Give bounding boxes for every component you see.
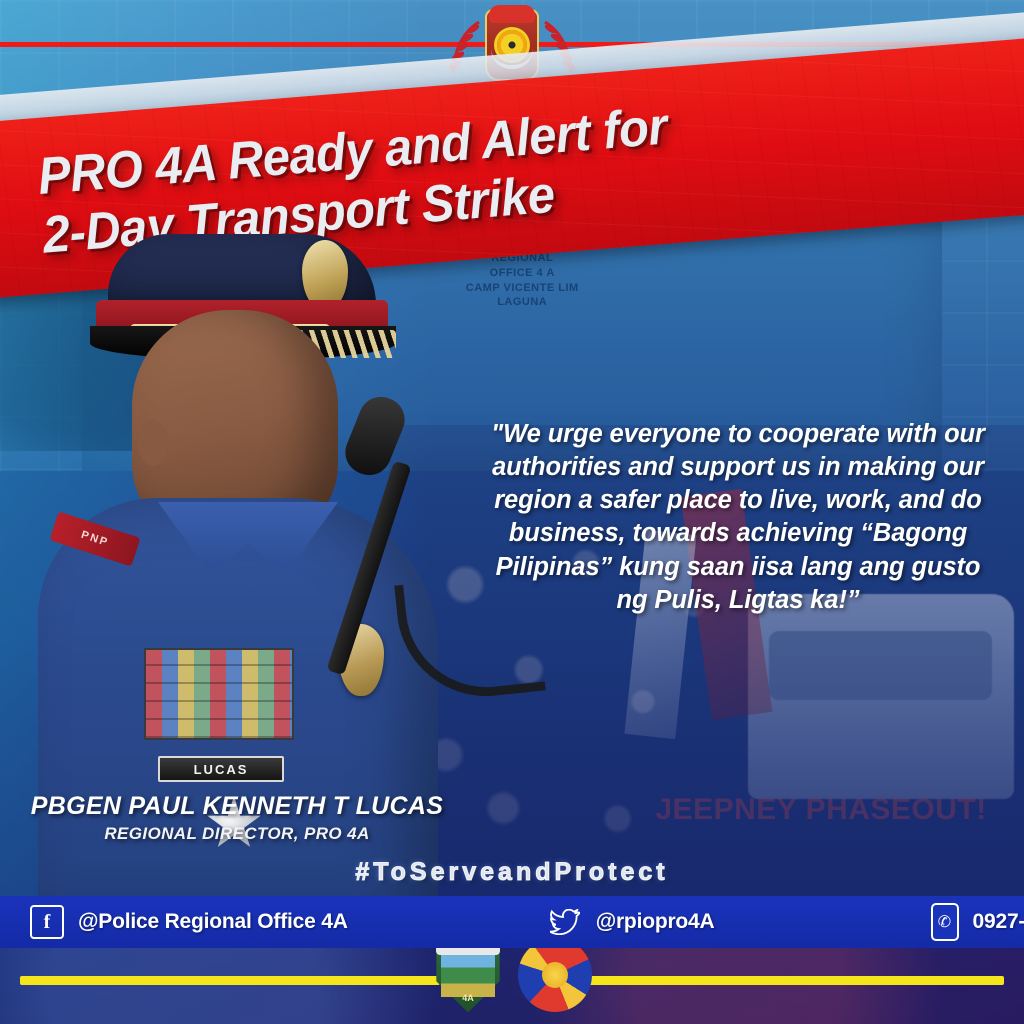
pro-4a-seal: 4A xyxy=(432,948,504,1014)
twitter-handle[interactable]: @rpiopro4A xyxy=(596,910,715,934)
emblem-group: 4A xyxy=(432,948,592,1014)
official-name: PBGEN PAUL KENNETH T LUCAS xyxy=(22,792,452,821)
phone-number[interactable]: 0927-022-0569 xyxy=(973,910,1024,934)
contact-phone[interactable]: ✆ 0927-022-0569 xyxy=(931,903,1024,941)
official-title: REGIONAL DIRECTOR, PRO 4A xyxy=(22,824,452,844)
contact-footer-bar: f @Police Regional Office 4A @rpiopro4A … xyxy=(0,896,1024,948)
pro-4a-shield-chief xyxy=(436,948,499,955)
hashtag-slogan: #ToServeandProtect xyxy=(0,858,1024,887)
quote-text: "We urge everyone to cooperate with our … xyxy=(478,418,998,617)
yellow-line-left xyxy=(20,976,440,985)
seal-bow xyxy=(489,5,535,23)
facebook-icon[interactable]: f xyxy=(30,905,64,939)
mobile-phone-icon[interactable]: ✆ xyxy=(931,903,959,941)
cap-insignia-icon xyxy=(302,240,348,308)
official-name-block: PBGEN PAUL KENNETH T LUCAS REGIONAL DIRE… xyxy=(22,792,452,844)
facebook-handle[interactable]: @Police Regional Office 4A xyxy=(78,910,348,934)
twitter-bird-icon[interactable] xyxy=(548,905,582,939)
shoulder-patch: PNP xyxy=(49,511,140,566)
pro-4a-shield-scene xyxy=(441,952,496,997)
poster-canvas: REGIONAL OFFICE 4 A CAMP VICENTE LIM LAG… xyxy=(0,0,1024,1024)
contact-twitter[interactable]: @rpiopro4A xyxy=(548,905,715,939)
yellow-line-right xyxy=(584,976,1004,985)
pro-4a-shield-label: 4A xyxy=(432,993,504,1003)
contact-facebook[interactable]: f @Police Regional Office 4A xyxy=(30,905,348,939)
bagong-pilipinas-sun xyxy=(542,962,568,988)
uniform-nameplate: LUCAS xyxy=(158,756,284,782)
uniform-collar xyxy=(158,502,338,572)
bagong-pilipinas-logo xyxy=(518,948,592,1012)
ribbon-rack xyxy=(144,648,294,740)
officer-ear xyxy=(138,420,168,466)
bottom-emblem-strip: 4A xyxy=(0,948,1024,1024)
